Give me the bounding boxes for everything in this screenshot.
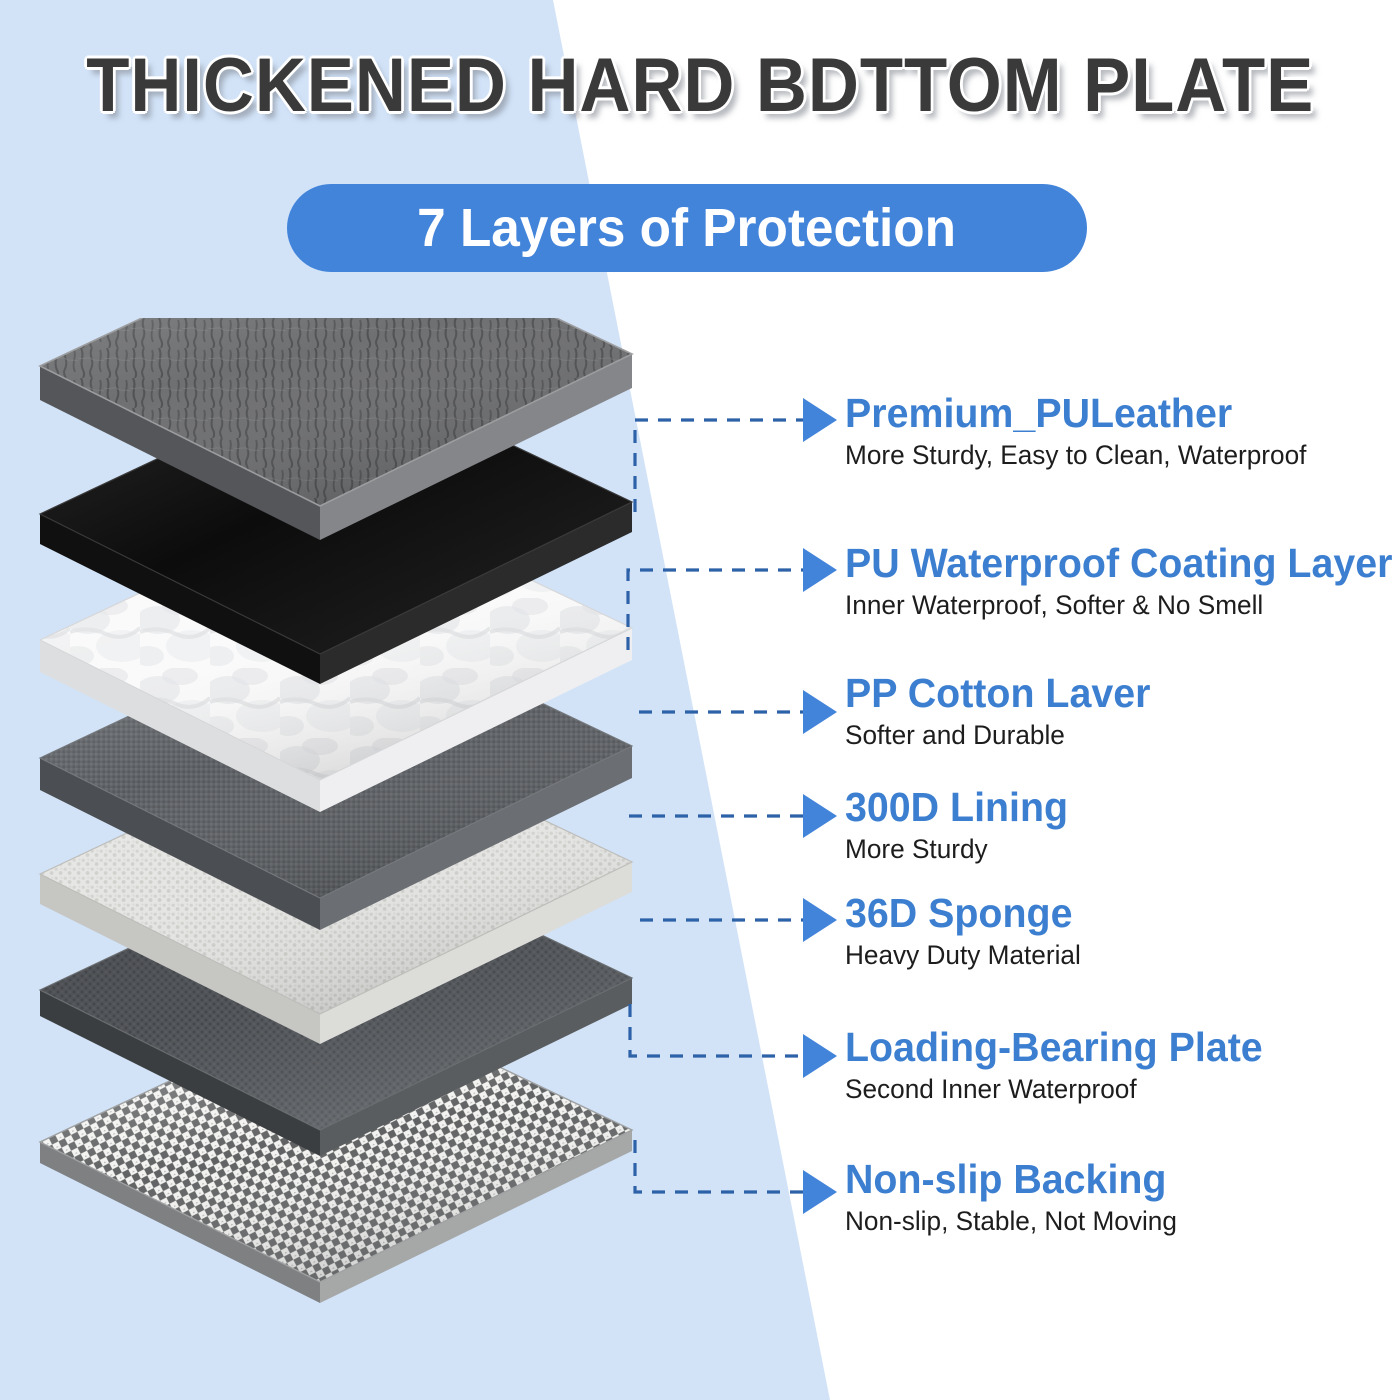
layer-label-1-subtitle: More Sturdy, Easy to Clean, Waterproof <box>845 440 1306 470</box>
layers-count-badge: 7 Layers of Protection <box>287 184 1087 272</box>
layer-label-6-title: Loading-Bearing Plate <box>845 1026 1263 1069</box>
layer-label-3-title: PP Cotton Laver <box>845 672 1150 715</box>
layer-label-6: Loading-Bearing Plate Second Inner Water… <box>845 1026 1280 1104</box>
layer-label-5: 36D Sponge Heavy Duty Material <box>845 892 1088 970</box>
layers-count-badge-label: 7 Layers of Protection <box>418 197 957 259</box>
layer-label-7-subtitle: Non-slip, Stable, Not Moving <box>845 1206 1177 1236</box>
exploded-layer-stack-illustration <box>0 318 680 1328</box>
layer-label-1-title: Premium_PULeather <box>845 392 1302 435</box>
layer-label-2-subtitle: Inner Waterproof, Softer & No Smell <box>845 590 1398 620</box>
layer-label-5-subtitle: Heavy Duty Material <box>845 940 1081 970</box>
layer-label-6-subtitle: Second Inner Waterproof <box>845 1074 1267 1104</box>
layer-label-7: Non-slip Backing Non-slip, Stable, Not M… <box>845 1158 1187 1236</box>
page-title: THICKENED HARD BDTTOM PLATE <box>0 48 1400 124</box>
layer-label-5-title: 36D Sponge <box>845 892 1078 935</box>
layer-label-2-title: PU Waterproof Coating Layer <box>845 542 1392 585</box>
layer-label-4: 300D Lining More Sturdy <box>845 786 1077 864</box>
layer-label-2: PU Waterproof Coating Layer Inner Waterp… <box>845 542 1400 620</box>
page-title-text: THICKENED HARD BDTTOM PLATE <box>86 48 1314 124</box>
layer-label-1: Premium_PULeather More Sturdy, Easy to C… <box>845 392 1321 470</box>
layer-label-7-title: Non-slip Backing <box>845 1158 1173 1201</box>
layer-label-4-subtitle: More Sturdy <box>845 834 1070 864</box>
layer-label-3-subtitle: Softer and Durable <box>845 720 1154 750</box>
layer-label-4-title: 300D Lining <box>845 786 1068 829</box>
layer-label-3: PP Cotton Laver Softer and Durable <box>845 672 1163 750</box>
